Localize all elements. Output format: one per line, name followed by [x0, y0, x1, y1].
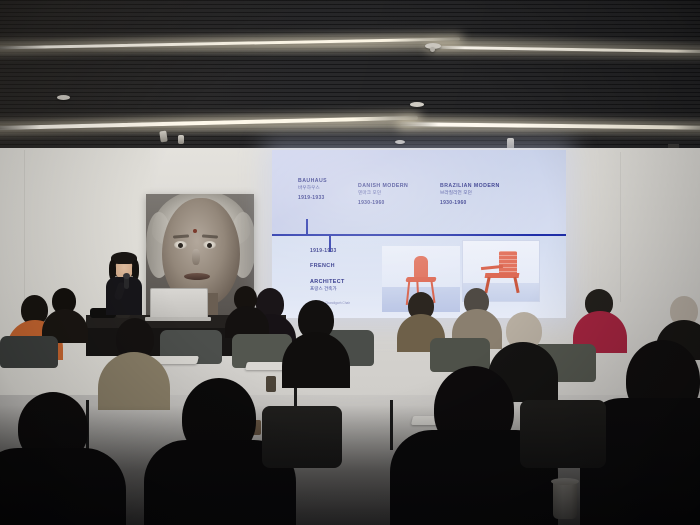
sprinkler-icon	[57, 95, 70, 100]
sprinkler-head-icon	[430, 47, 435, 52]
audience-shoulders	[282, 332, 350, 388]
chair-backrest	[0, 336, 58, 368]
audience-member	[286, 300, 346, 380]
audience-member	[46, 288, 86, 340]
sprinkler-icon	[395, 140, 405, 144]
spotlight-icon	[178, 135, 184, 144]
wall-seam	[620, 152, 621, 302]
portrait-bindi	[193, 229, 197, 233]
laptop	[150, 288, 208, 320]
audience-member	[228, 286, 266, 336]
sprinkler-icon	[410, 102, 424, 107]
portrait-mouth	[184, 273, 210, 280]
presenter	[104, 252, 144, 314]
foreground-shadow	[0, 405, 700, 525]
portrait-eye	[203, 241, 216, 249]
lecture-hall-photo: BAUHAUS 바우하우스 1919-1933 DANISH MODERN 덴마…	[0, 0, 700, 525]
spotlight-icon	[159, 131, 167, 143]
portrait-eye	[174, 241, 187, 249]
portrait-nose	[192, 249, 200, 265]
microphone-head-icon	[123, 273, 130, 279]
